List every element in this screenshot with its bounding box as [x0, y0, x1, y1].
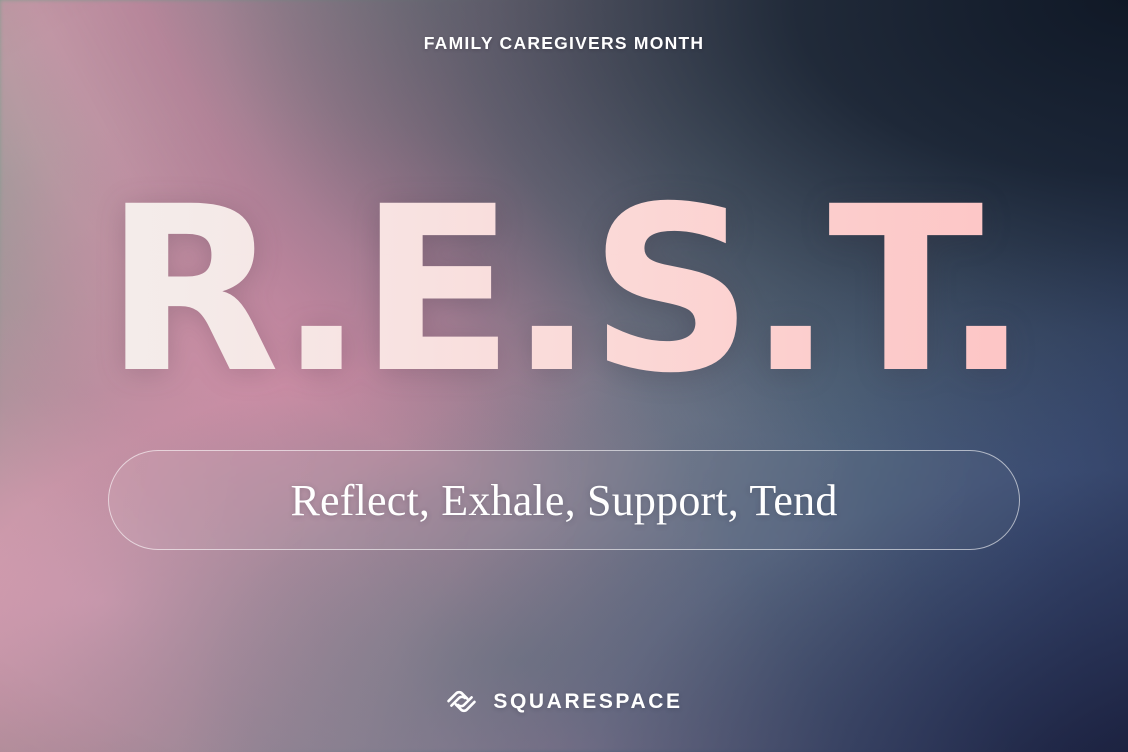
brand-lockup: SQUARESPACE — [0, 685, 1128, 718]
eyebrow-label: FAMILY CAREGIVERS MONTH — [0, 33, 1128, 54]
subtitle-text: Reflect, Exhale, Support, Tend — [290, 475, 837, 526]
squarespace-wordmark: SQUARESPACE — [493, 690, 682, 714]
squarespace-logo-icon — [445, 685, 478, 718]
poster-canvas: FAMILY CAREGIVERS MONTH R.E.S.T. Reflect… — [0, 0, 1128, 752]
poster-content: FAMILY CAREGIVERS MONTH R.E.S.T. Reflect… — [0, 0, 1128, 752]
page-title: R.E.S.T. — [0, 176, 1128, 404]
subtitle-pill: Reflect, Exhale, Support, Tend — [108, 450, 1020, 550]
